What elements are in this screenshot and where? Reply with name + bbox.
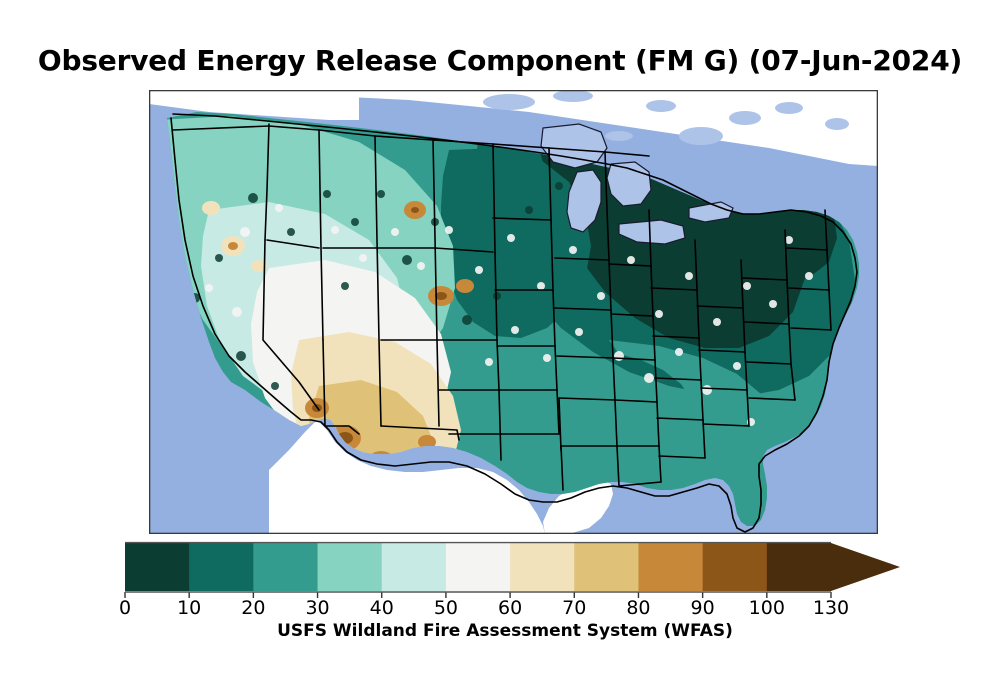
colorbar[interactable]: 0102030405060708090100130 USFS Wildland … bbox=[105, 541, 905, 636]
figure-root: Observed Energy Release Component (FM G)… bbox=[0, 0, 1000, 700]
colorbar-extend-max-arrow bbox=[831, 543, 900, 591]
colorbar-segment bbox=[189, 543, 254, 591]
map-panel[interactable] bbox=[149, 90, 878, 534]
colorbar-segment bbox=[574, 543, 639, 591]
choropleth-map[interactable] bbox=[149, 90, 878, 534]
figure-caption: USFS Wildland Fire Assessment System (WF… bbox=[105, 621, 905, 641]
colorbar-segment bbox=[510, 543, 575, 591]
colorbar-tick-label: 60 bbox=[498, 597, 522, 619]
colorbar-tick-label: 0 bbox=[119, 597, 131, 619]
colorbar-segment bbox=[253, 543, 318, 591]
colorbar-tick-label: 80 bbox=[626, 597, 650, 619]
colorbar-tick-label: 50 bbox=[434, 597, 458, 619]
colorbar-segment bbox=[382, 543, 447, 591]
colorbar-tick-label: 90 bbox=[691, 597, 715, 619]
colorbar-tick-label: 10 bbox=[177, 597, 201, 619]
colorbar-segments bbox=[125, 543, 832, 591]
colorbar-tick-label: 70 bbox=[562, 597, 586, 619]
colorbar-tick-label: 20 bbox=[241, 597, 265, 619]
colorbar-segment bbox=[703, 543, 768, 591]
colorbar-segment bbox=[125, 543, 190, 591]
colorbar-segment bbox=[767, 543, 832, 591]
colorbar-segment bbox=[318, 543, 383, 591]
colorbar-tick-label: 100 bbox=[749, 597, 785, 619]
colorbar-tick-label: 40 bbox=[370, 597, 394, 619]
colorbar-tick-label: 30 bbox=[305, 597, 329, 619]
colorbar-tick-label: 130 bbox=[813, 597, 849, 619]
colorbar-swatches[interactable] bbox=[105, 541, 905, 599]
page-title: Observed Energy Release Component (FM G)… bbox=[0, 44, 1000, 77]
colorbar-segment bbox=[446, 543, 511, 591]
colorbar-segment bbox=[638, 543, 703, 591]
colorbar-tick-labels: 0102030405060708090100130 bbox=[105, 597, 905, 623]
